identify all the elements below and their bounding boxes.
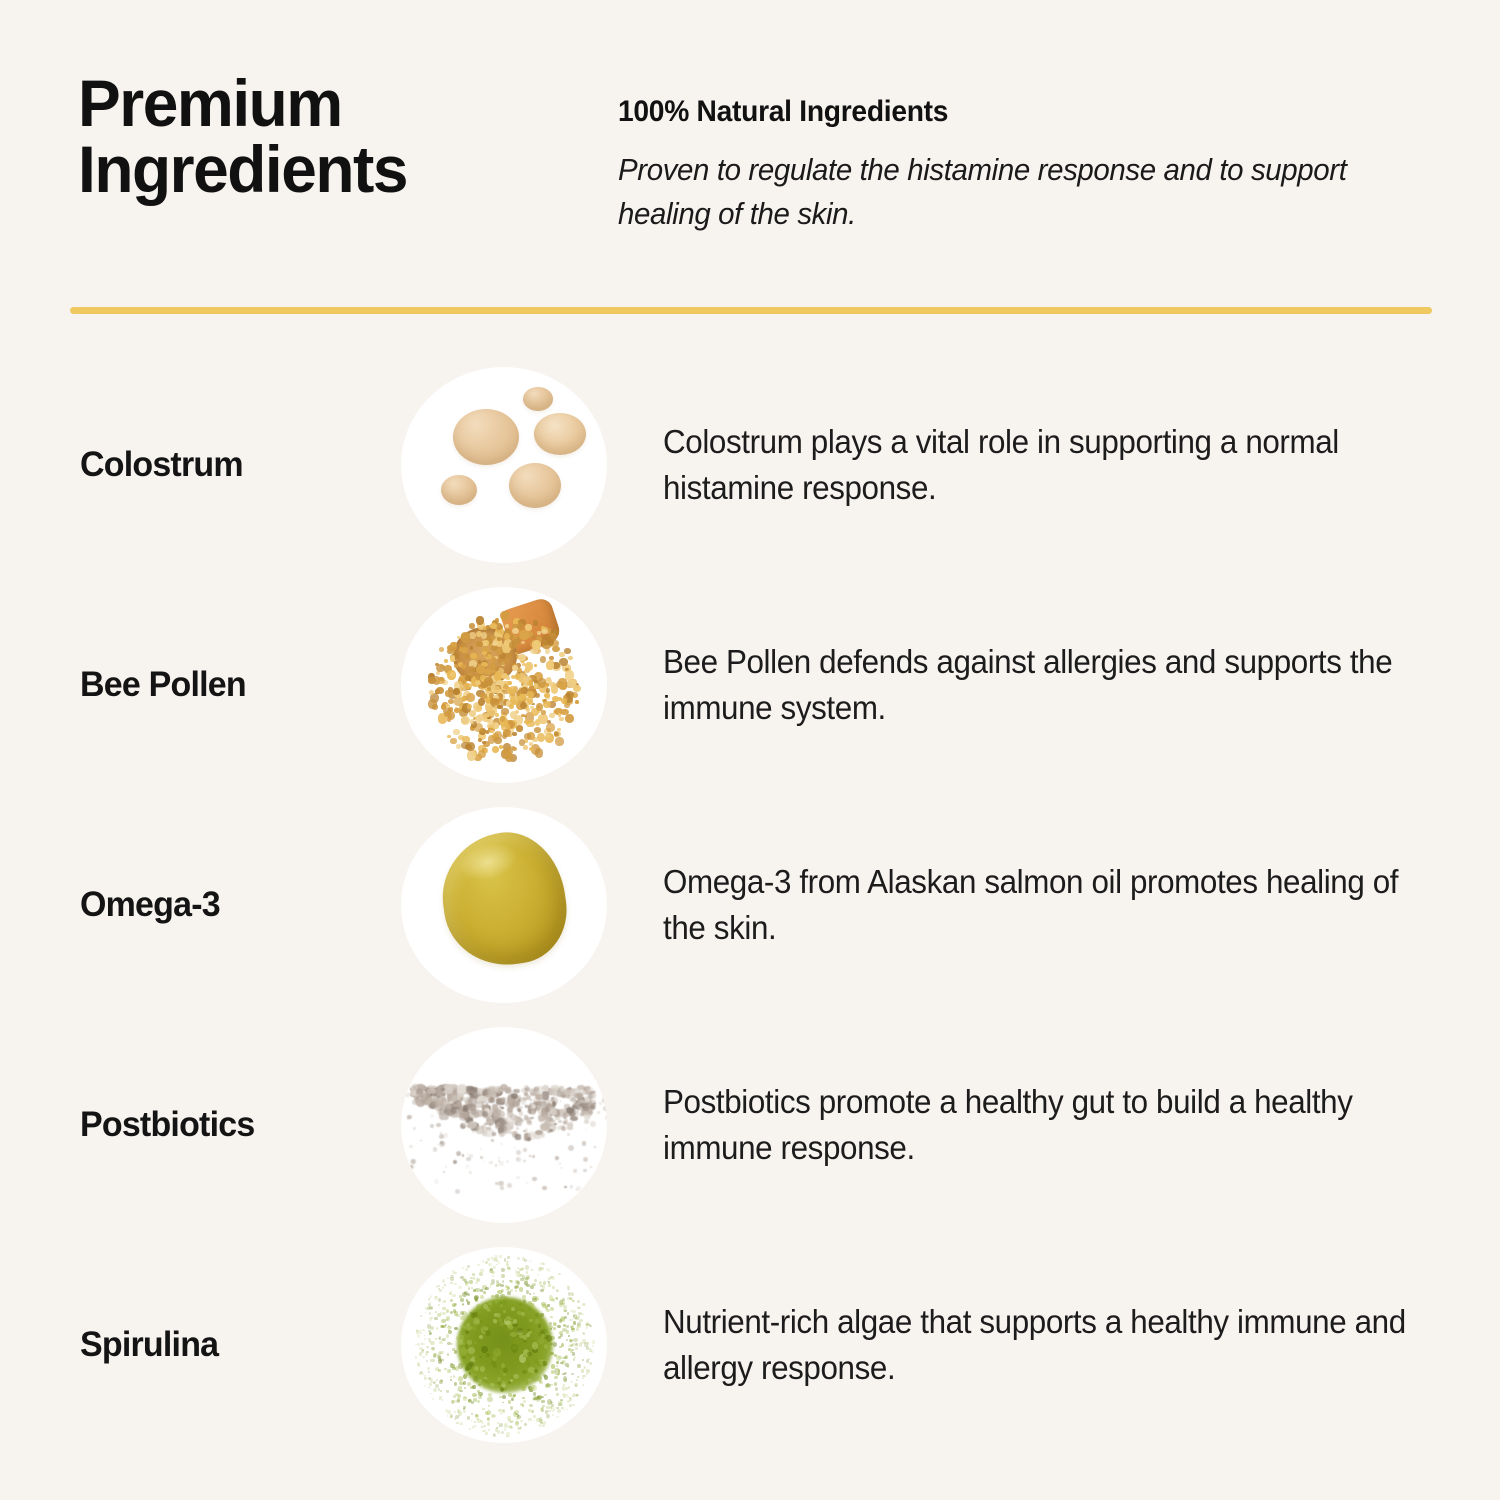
powder-crumb [501, 1143, 503, 1145]
powder-crumb [501, 1097, 506, 1102]
spirulina-particle [552, 1414, 554, 1416]
spirulina-particle [429, 1383, 432, 1386]
spirulina-particle [496, 1284, 499, 1287]
spirulina-particle [501, 1268, 505, 1272]
spirulina-particle [474, 1366, 479, 1371]
spirulina-particle [462, 1356, 466, 1359]
spirulina-particle [483, 1291, 487, 1294]
spirulina-particle [472, 1326, 476, 1330]
pollen-granule [547, 677, 551, 681]
spirulina-particle [488, 1405, 490, 1408]
spirulina-particle [480, 1269, 483, 1273]
spirulina-particle [465, 1268, 468, 1271]
spirulina-particle [592, 1345, 594, 1347]
spirulina-particle [571, 1373, 573, 1375]
spirulina-particle [570, 1340, 572, 1342]
spirulina-particle [560, 1403, 564, 1406]
spirulina-particle [478, 1392, 482, 1397]
pollen-granule [559, 652, 565, 657]
powder-crumb [500, 1186, 504, 1190]
spirulina-particle [463, 1381, 466, 1385]
ingredient-list: Colostrum Colostrum plays a vital role i… [0, 355, 1500, 1455]
powder-crumb [603, 1106, 607, 1111]
spirulina-particle [487, 1422, 490, 1426]
spirulina-particle [556, 1393, 559, 1395]
spirulina-particle [454, 1382, 458, 1386]
spirulina-particle [491, 1295, 494, 1298]
pollen-granule [484, 748, 488, 752]
ingredient-image-wrapper [398, 1245, 610, 1445]
spirulina-particle [502, 1300, 507, 1305]
spirulina-particle [584, 1366, 586, 1368]
powder-crumb [568, 1145, 574, 1151]
spirulina-particle [428, 1387, 430, 1389]
spirulina-particle [499, 1423, 503, 1427]
spirulina-particle [474, 1425, 476, 1427]
pollen-granule [536, 703, 543, 711]
spirulina-particle [473, 1318, 479, 1325]
spirulina-particle [567, 1312, 569, 1314]
spirulina-particle [533, 1293, 535, 1294]
spirulina-particle [575, 1343, 578, 1346]
spirulina-particle [458, 1339, 464, 1345]
pollen-granule [461, 716, 470, 725]
powder-particle [570, 1116, 578, 1122]
ingredient-image-wrapper [398, 365, 610, 565]
spirulina-particle [543, 1263, 545, 1265]
powder-crumb [477, 1106, 479, 1108]
spirulina-particle [572, 1404, 575, 1407]
spirulina-particle [485, 1288, 487, 1290]
spirulina-particle [450, 1282, 453, 1284]
spirulina-particle [464, 1387, 467, 1389]
spirulina-particle [573, 1315, 575, 1317]
droplet-icon [441, 475, 477, 505]
spirulina-particle [423, 1343, 425, 1345]
spirulina-particle [433, 1353, 437, 1357]
powder-crumb [472, 1130, 475, 1133]
spirulina-particle [510, 1406, 513, 1410]
powder-crumb [462, 1154, 465, 1157]
spirulina-particle [592, 1340, 595, 1344]
spirulina-particle [517, 1414, 519, 1416]
spirulina-particle [442, 1279, 445, 1283]
powder-crumb [583, 1169, 586, 1172]
spirulina-particle [506, 1436, 508, 1437]
spirulina-particle [467, 1340, 471, 1345]
spirulina-particle [458, 1376, 463, 1381]
pollen-granule [494, 723, 500, 729]
spirulina-particle [419, 1347, 423, 1350]
spirulina-burst [413, 1253, 597, 1439]
spirulina-particle [524, 1423, 527, 1426]
powder-crumb [605, 1115, 607, 1120]
pollen-granule [481, 632, 487, 639]
powder-crumb [594, 1146, 596, 1148]
spirulina-particle [422, 1356, 425, 1358]
powder-particle [516, 1127, 519, 1130]
spirulina-particle [517, 1281, 520, 1285]
spirulina-particle [556, 1365, 558, 1367]
main-title: Premium Ingredients [78, 70, 602, 202]
spirulina-particle [565, 1387, 568, 1390]
spirulina-particle [572, 1300, 575, 1302]
spirulina-particle [480, 1295, 484, 1299]
pollen-granule [493, 641, 497, 645]
spirulina-particle [458, 1363, 463, 1369]
spirulina-particle [477, 1264, 480, 1266]
spirulina-particle [504, 1423, 508, 1428]
powder-particle [421, 1093, 432, 1105]
spirulina-particle [582, 1313, 584, 1315]
spirulina-particle [497, 1313, 501, 1318]
spirulina-particle [518, 1303, 523, 1306]
ingredient-description: Colostrum plays a vital role in supporti… [663, 419, 1423, 511]
pollen-granule [538, 678, 546, 687]
spirulina-particle [465, 1344, 468, 1348]
powder-crumb [582, 1141, 586, 1145]
spirulina-particle [577, 1376, 579, 1379]
pollen-granule [521, 641, 525, 644]
spirulina-particle [557, 1325, 561, 1328]
spirulina-particle [554, 1376, 558, 1379]
spirulina-particle [428, 1303, 431, 1306]
spirulina-particle [582, 1377, 584, 1379]
powder-particle [506, 1087, 511, 1090]
powder-crumb [527, 1110, 530, 1113]
droplet-icon [523, 387, 553, 411]
pollen-granule [525, 662, 533, 671]
spirulina-particle [550, 1316, 553, 1318]
spirulina-particle [424, 1312, 426, 1313]
powder-crumb [527, 1137, 531, 1141]
powder-crumb [590, 1121, 596, 1127]
powder-crumb [495, 1164, 498, 1167]
powder-crumb [560, 1100, 562, 1102]
pollen-granule [500, 716, 505, 722]
powder-crumb [499, 1161, 505, 1167]
powder-crumb [443, 1133, 448, 1138]
spirulina-particle [534, 1358, 540, 1363]
spirulina-particle [582, 1359, 585, 1361]
spirulina-particle [441, 1325, 444, 1328]
spirulina-particle [458, 1386, 462, 1390]
spirulina-particle [462, 1267, 464, 1269]
spirulina-particle [566, 1325, 570, 1328]
pollen-granule [450, 655, 455, 661]
spirulina-particle [507, 1256, 509, 1259]
powder-crumb [507, 1183, 512, 1188]
spirulina-particle [574, 1383, 577, 1386]
pollen-granule [486, 625, 490, 629]
powder-crumb [514, 1147, 517, 1150]
powder-crumb [600, 1086, 603, 1089]
spirulina-particle [469, 1428, 471, 1430]
powder-particle [511, 1093, 518, 1099]
spirulina-particle [521, 1386, 526, 1390]
spirulina-particle [558, 1416, 560, 1417]
spirulina-particle [443, 1300, 447, 1304]
bee-pollen-granules-image [401, 587, 607, 783]
header-divider [70, 307, 1432, 314]
powder-crumb [413, 1127, 415, 1129]
header-subtitle: Proven to regulate the histamine respons… [618, 148, 1397, 236]
spirulina-particle [531, 1410, 533, 1413]
spirulina-particle [481, 1346, 487, 1353]
powder-crumb [465, 1164, 470, 1169]
spirulina-particle [440, 1379, 443, 1382]
pollen-granule [560, 709, 569, 716]
spirulina-particle [438, 1288, 439, 1290]
powder-crumb [564, 1186, 567, 1189]
spirulina-particle [433, 1388, 437, 1392]
pollen-granule [527, 691, 534, 698]
powder-crumb [427, 1088, 429, 1090]
spirulina-particle [573, 1358, 576, 1361]
powder-crumb [526, 1182, 528, 1184]
ingredient-name: Spirulina [80, 1326, 390, 1365]
pollen-granule [527, 680, 533, 686]
spirulina-particle [541, 1407, 544, 1410]
pollen-granule [451, 642, 457, 647]
spirulina-particle [566, 1339, 568, 1341]
powder-crumb [430, 1114, 434, 1118]
pollen-granule [436, 677, 445, 684]
powder-crumb [468, 1124, 471, 1127]
spirulina-particle [467, 1416, 470, 1419]
pollen-granule [456, 744, 461, 750]
spirulina-particle [513, 1374, 519, 1379]
spirulina-particle [488, 1302, 492, 1305]
powder-crumb [482, 1111, 488, 1117]
spirulina-particle [546, 1406, 548, 1408]
pollen-granule [515, 673, 521, 680]
spirulina-particle [477, 1400, 480, 1403]
powder-particle [477, 1088, 482, 1095]
pollen-granule [552, 646, 560, 653]
spirulina-particle [488, 1429, 490, 1432]
powder-crumb [489, 1161, 493, 1165]
spirulina-particle [450, 1291, 452, 1293]
spirulina-particle [522, 1404, 524, 1407]
spirulina-particle [507, 1416, 510, 1420]
spirulina-particle [572, 1343, 575, 1346]
spirulina-particle [460, 1316, 465, 1321]
pollen-granule [450, 738, 456, 744]
spirulina-particle [473, 1398, 477, 1402]
spirulina-particle [528, 1301, 532, 1304]
ingredient-row-spirulina: Spirulina Nutrient-rich algae that suppo… [0, 1235, 1500, 1455]
spirulina-particle [583, 1333, 585, 1335]
pollen-granule [439, 647, 445, 652]
spirulina-particle [546, 1335, 552, 1342]
spirulina-particle [478, 1396, 481, 1399]
spirulina-particle [476, 1304, 481, 1310]
spirulina-particle [479, 1356, 482, 1358]
spirulina-particle [493, 1348, 501, 1357]
spirulina-particle [582, 1384, 584, 1386]
pollen-granule [566, 691, 573, 698]
pollen-granule [532, 640, 541, 650]
spirulina-particle [437, 1354, 441, 1359]
pollen-granule [524, 720, 530, 724]
spirulina-particle [477, 1419, 480, 1423]
spirulina-particle [475, 1282, 477, 1284]
spirulina-particle [429, 1332, 432, 1335]
ingredient-image-wrapper [398, 805, 610, 1005]
powder-crumb [579, 1102, 585, 1108]
spirulina-particle [522, 1275, 525, 1279]
pollen-granule [476, 641, 483, 647]
spirulina-particle [571, 1349, 574, 1351]
powder-particle [535, 1130, 543, 1135]
pollen-granule [500, 611, 509, 620]
pollen-granule [535, 719, 540, 725]
pollen-granule [467, 750, 476, 760]
pollen-granule [454, 708, 459, 713]
powder-crumb [603, 1161, 606, 1164]
pollen-granule [494, 632, 497, 636]
spirulina-particle [539, 1417, 542, 1421]
powder-particle [460, 1097, 463, 1100]
spirulina-particle [492, 1275, 495, 1278]
spirulina-particle [457, 1398, 460, 1400]
powder-particle [501, 1107, 503, 1109]
spirulina-particle [550, 1307, 554, 1312]
spirulina-particle [491, 1279, 495, 1284]
pollen-granule [500, 625, 504, 629]
pollen-granule [499, 745, 504, 749]
spirulina-particle [447, 1353, 449, 1356]
spirulina-particle [575, 1347, 577, 1350]
pollen-granule [504, 633, 510, 640]
spirulina-particle [533, 1415, 535, 1417]
powder-crumb [584, 1119, 589, 1124]
spirulina-particle [519, 1268, 522, 1271]
spirulina-particle [501, 1274, 504, 1278]
spirulina-particle [424, 1335, 426, 1337]
powder-crumb [491, 1139, 494, 1142]
spirulina-particle [563, 1384, 565, 1386]
pollen-granule [559, 717, 564, 721]
pollen-granule [488, 735, 495, 744]
spirulina-particle [502, 1402, 503, 1403]
powder-particle [549, 1088, 557, 1095]
spirulina-particle [436, 1327, 439, 1330]
spirulina-particle [554, 1368, 559, 1375]
spirulina-particle [436, 1379, 438, 1381]
pollen-granule [493, 686, 499, 692]
spirulina-particle [585, 1326, 588, 1329]
spirulina-particle [488, 1263, 492, 1266]
spirulina-particle [532, 1283, 536, 1286]
pollen-granule [461, 664, 466, 669]
spirulina-particle [424, 1385, 426, 1387]
spirulina-particle [440, 1390, 442, 1393]
pollen-granule [436, 664, 445, 673]
spirulina-particle [490, 1286, 492, 1288]
powder-crumb [588, 1094, 593, 1099]
pollen-granule [475, 715, 483, 723]
powder-crumb [542, 1186, 547, 1191]
pollen-granule [544, 693, 550, 698]
spirulina-particle [534, 1279, 537, 1283]
spirulina-particle [505, 1321, 511, 1325]
spirulina-particle [542, 1304, 547, 1308]
powder-crumb [459, 1114, 463, 1118]
spirulina-particle [568, 1335, 570, 1337]
spirulina-particle [424, 1338, 426, 1339]
spirulina-particle [435, 1338, 438, 1340]
spirulina-particle [450, 1379, 452, 1381]
spirulina-particle [459, 1390, 462, 1393]
pollen-granule [516, 691, 520, 695]
spirulina-particle [519, 1287, 524, 1292]
spirulina-particle [573, 1321, 576, 1325]
ingredient-description: Nutrient-rich algae that supports a heal… [663, 1299, 1423, 1391]
spirulina-particle [556, 1289, 559, 1292]
spirulina-particle [442, 1312, 446, 1316]
spirulina-particle [481, 1426, 484, 1428]
powder-crumb [432, 1099, 438, 1105]
spirulina-particle [453, 1309, 456, 1313]
spirulina-particle [483, 1425, 486, 1427]
spirulina-particle [581, 1369, 584, 1373]
spirulina-particle [551, 1370, 554, 1374]
spirulina-particle [576, 1379, 578, 1381]
powder-crumb [590, 1166, 592, 1168]
pollen-granule [534, 664, 538, 667]
spirulina-particle [524, 1259, 527, 1262]
spirulina-particle [522, 1397, 524, 1399]
ingredient-row-omega-3: Omega-3 Omega-3 from Alaskan salmon oil … [0, 795, 1500, 1015]
spirulina-particle [487, 1258, 490, 1261]
pollen-granule [543, 701, 551, 708]
spirulina-particle [446, 1334, 449, 1337]
spirulina-particle [586, 1373, 588, 1375]
spirulina-particle [572, 1310, 576, 1313]
spirulina-particle [426, 1346, 428, 1349]
powder-crumb [469, 1171, 472, 1174]
spirulina-particle [511, 1364, 516, 1370]
spirulina-particle [550, 1276, 553, 1278]
spirulina-particle [567, 1297, 571, 1300]
pollen-granule [501, 708, 509, 715]
spirulina-particle [415, 1356, 417, 1358]
powder-crumb [516, 1150, 521, 1155]
powder-crumb [436, 1123, 440, 1127]
spirulina-particle [479, 1272, 482, 1276]
powder-particle [536, 1094, 541, 1100]
spirulina-particle [528, 1331, 532, 1334]
spirulina-particle [515, 1421, 519, 1424]
pollen-granule [546, 688, 551, 693]
spirulina-particle [555, 1387, 558, 1391]
powder-particle [558, 1120, 562, 1123]
spirulina-particle [566, 1409, 568, 1411]
pollen-granule [555, 737, 564, 746]
spirulina-particle [450, 1364, 454, 1368]
spirulina-particle [492, 1258, 494, 1260]
pollen-granule [518, 654, 526, 661]
pollen-granule [547, 639, 554, 647]
powder-particle [567, 1095, 570, 1099]
powder-particle [542, 1085, 549, 1091]
powder-crumb [506, 1160, 509, 1163]
powder-crumb [445, 1166, 447, 1168]
powder-particle [519, 1106, 523, 1109]
spirulina-particle [442, 1286, 444, 1288]
